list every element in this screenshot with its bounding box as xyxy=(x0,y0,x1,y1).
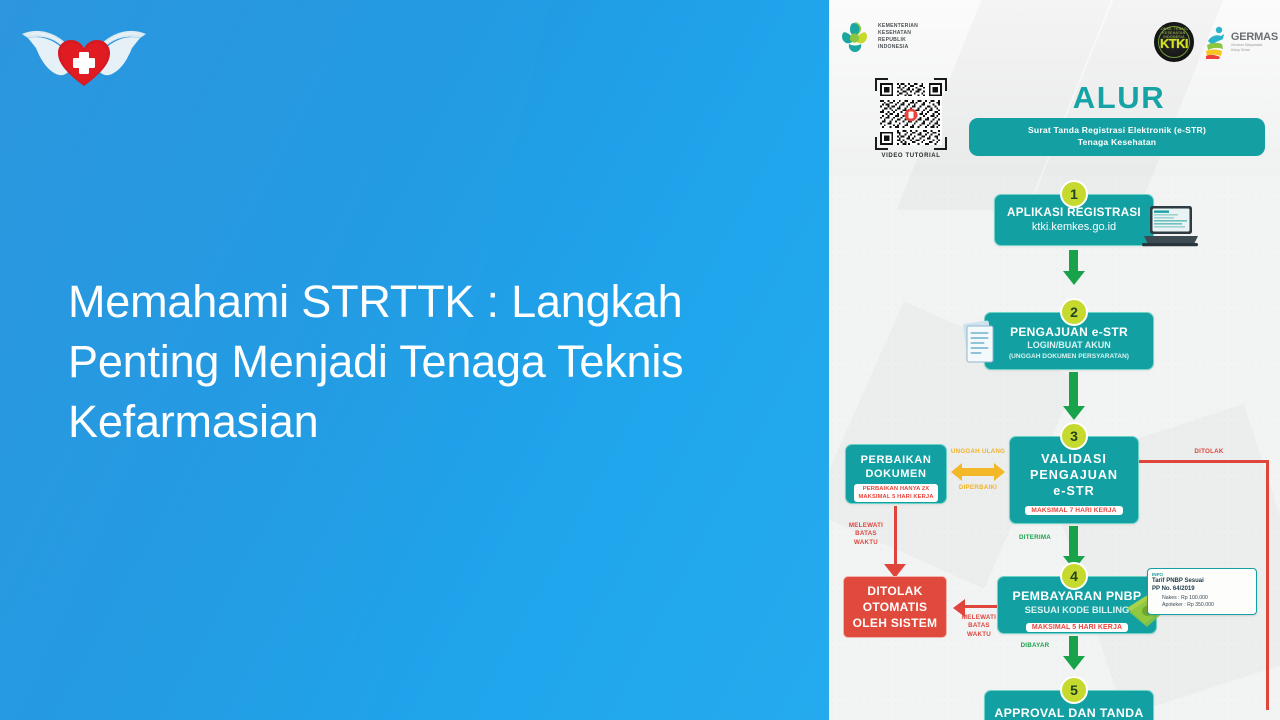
arrow-head xyxy=(1063,406,1085,420)
step-4-pill: MAKSIMAL 5 HARI KERJA xyxy=(1026,623,1128,632)
step-1-subtitle: ktki.kemkes.go.id xyxy=(995,220,1153,235)
qr-code[interactable] xyxy=(875,78,947,150)
step-2-subtitle-1: LOGIN/BUAT AKUN xyxy=(985,340,1153,352)
infographic-subtitle-line1: Surat Tanda Registrasi Elektronik (e-STR… xyxy=(975,124,1259,136)
page-title: Memahami STRTTK : Langkah Penting Menjad… xyxy=(68,272,798,452)
pnbp-to-ditolak-line xyxy=(965,605,1001,608)
partner-logos: KONSIL TENAGA KESEHATAN INDONESIA KTKI G… xyxy=(1154,22,1278,62)
arrow-head xyxy=(1063,656,1085,670)
step-4-badge: 4 xyxy=(1060,562,1088,590)
infographic-subtitle: Surat Tanda Registrasi Elektronik (e-STR… xyxy=(969,118,1265,156)
step-3-badge: 3 xyxy=(1060,422,1088,450)
infographic-header: KEMENTERIAN KESEHATAN REPUBLIK INDONESIA… xyxy=(829,0,1280,176)
arrow-head-left xyxy=(951,463,962,481)
tarif-info-card: INFO Tarif PNBP Sesuai PP No. 64/2019 Na… xyxy=(1147,568,1257,615)
qr-code-label: VIDEO TUTORIAL xyxy=(875,153,947,159)
infographic-panel: KEMENTERIAN KESEHATAN REPUBLIK INDONESIA… xyxy=(829,0,1280,720)
ditolak-otomatis-line2: OTOMATIS xyxy=(863,599,928,615)
germas-sub-label: Gerakan Masyarakat Hidup Sehat xyxy=(1231,43,1278,52)
arrow-stem xyxy=(1069,372,1078,408)
tarif-card-row-1: Nakes : Rp 100.000 xyxy=(1152,595,1252,602)
page-title-text: Memahami STRTTK : Langkah Penting Menjad… xyxy=(68,272,798,452)
label-unggah-ulang: UNGGAH ULANG xyxy=(943,448,1013,456)
bidirectional-arrow-perbaikan-validasi xyxy=(951,462,1005,482)
tarif-card-title-line2: PP No. 64/2019 xyxy=(1152,585,1252,593)
step-5-number: 5 xyxy=(1070,682,1078,698)
step-2-subtitle-2: (UNGGAH DOKUMEN PERSYARATAN) xyxy=(985,352,1153,362)
step-5-title: APPROVAL DAN TANDA xyxy=(985,705,1153,720)
step-3-title-line2: PENGAJUAN xyxy=(1010,467,1138,483)
document-icon xyxy=(959,320,999,368)
ditolak-otomatis-line3: OLEH SISTEM xyxy=(853,615,938,631)
kemenkes-mark-icon xyxy=(837,20,873,54)
perbaikan-title-line2: DOKUMEN xyxy=(846,467,946,481)
ktki-logo: KONSIL TENAGA KESEHATAN INDONESIA KTKI xyxy=(1154,22,1194,62)
step-4-number: 4 xyxy=(1070,568,1078,584)
qr-code-icon xyxy=(880,83,942,145)
label-diperbaiki: DIPERBAIKI xyxy=(943,484,1013,492)
flow-diagram: 1 APLIKASI REGISTRASI ktki.kemkes.go.id xyxy=(829,176,1280,720)
ktki-logo-text: KTKI xyxy=(1155,36,1193,51)
melewati-line-vertical-left xyxy=(894,506,897,566)
step-5-badge: 5 xyxy=(1060,676,1088,704)
laptop-icon xyxy=(1142,204,1198,248)
label-melewati-batas-waktu-left: MELEWATI BATAS WAKTU xyxy=(843,522,889,547)
perbaikan-pill-line2: MAKSIMAL 5 HARI KERJA xyxy=(858,493,933,501)
ditolak-otomatis-line1: DITOLAK xyxy=(867,583,922,599)
slide-root: Memahami STRTTK : Langkah Penting Menjad… xyxy=(0,0,1280,720)
infographic-subtitle-line2: Tenaga Kesehatan xyxy=(975,136,1259,148)
step-3-title-line3: e-STR xyxy=(1010,483,1138,499)
label-ditolak: DITOLAK xyxy=(1179,448,1239,456)
step-3-title-line1: VALIDASI xyxy=(1010,451,1138,467)
germas-mark-icon xyxy=(1202,25,1228,59)
step-3-number: 3 xyxy=(1070,428,1078,444)
ditolak-line-vertical-right xyxy=(1266,460,1269,710)
arrow-bar xyxy=(962,468,994,476)
germas-label: GERMAS xyxy=(1231,31,1278,43)
arrow-head-right xyxy=(994,463,1005,481)
perbaikan-pill: PERBAIKAN HANYA 2X MAKSIMAL 5 HARI KERJA xyxy=(854,484,937,502)
step-2-number: 2 xyxy=(1070,304,1078,320)
arrow-stem xyxy=(1069,250,1078,272)
step-2-badge: 2 xyxy=(1060,298,1088,326)
label-dibayar: DIBAYAR xyxy=(1007,642,1063,650)
arrow-stem xyxy=(1069,526,1078,558)
ditolak-line-horizontal-top xyxy=(1139,460,1269,463)
perbaikan-pill-line1: PERBAIKAN HANYA 2X xyxy=(858,485,933,493)
tarif-card-row-2: Apoteker : Rp 350.000 xyxy=(1152,602,1252,609)
step-3-pill: MAKSIMAL 7 HARI KERJA xyxy=(1025,506,1122,515)
kemenkes-logo: KEMENTERIAN KESEHATAN REPUBLIK INDONESIA xyxy=(837,20,918,54)
kemenkes-logo-text: KEMENTERIAN KESEHATAN REPUBLIK INDONESIA xyxy=(878,23,918,52)
step-1-badge: 1 xyxy=(1060,180,1088,208)
tarif-card-title-line1: Tarif PNBP Sesuai xyxy=(1152,577,1252,585)
germas-logo: GERMAS Gerakan Masyarakat Hidup Sehat xyxy=(1202,25,1278,59)
step-1-number: 1 xyxy=(1070,186,1078,202)
perbaikan-title-line1: PERBAIKAN xyxy=(846,453,946,467)
label-melewati-batas-waktu-right: MELEWATI BATAS WAKTU xyxy=(955,614,1003,639)
caring-hands-heart-logo xyxy=(14,14,154,100)
left-title-panel: Memahami STRTTK : Langkah Penting Menjad… xyxy=(0,0,829,720)
perbaikan-dokumen-node[interactable]: PERBAIKAN DOKUMEN PERBAIKAN HANYA 2X MAK… xyxy=(845,444,947,504)
arrow-stem xyxy=(1069,636,1078,658)
qr-code-block[interactable]: VIDEO TUTORIAL xyxy=(875,78,947,159)
step-2-title: PENGAJUAN e-STR xyxy=(985,325,1153,340)
arrow-head xyxy=(1063,271,1085,285)
ditolak-otomatis-node[interactable]: DITOLAK OTOMATIS OLEH SISTEM xyxy=(843,576,947,638)
label-diterima: DITERIMA xyxy=(1007,534,1063,542)
